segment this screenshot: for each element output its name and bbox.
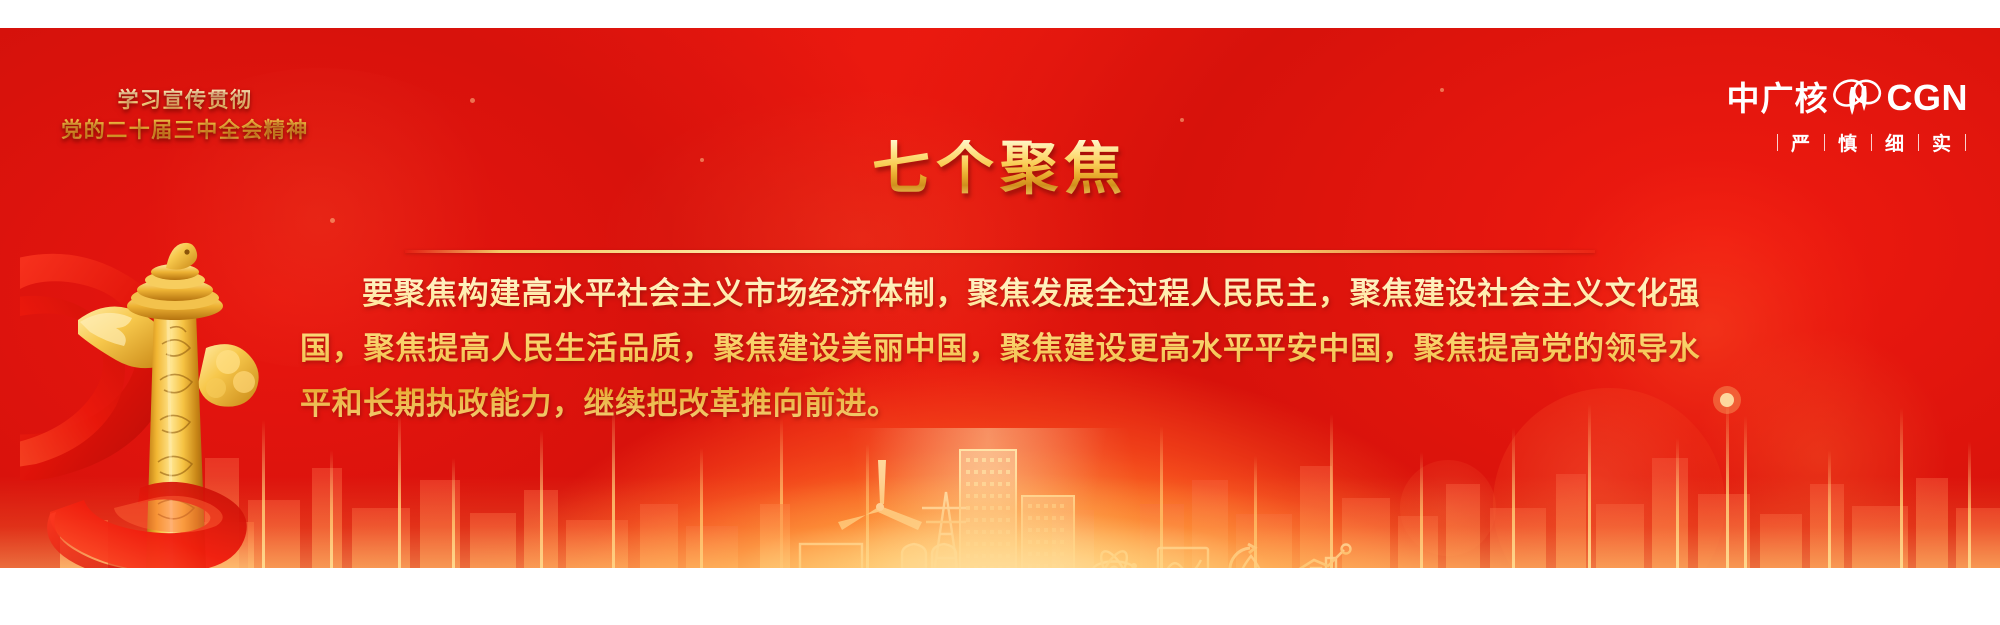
red-silk-ribbon-front (50, 482, 247, 568)
tagline-char-2: 慎 (1825, 129, 1871, 156)
gold-divider-line (405, 250, 1595, 253)
campaign-slogan: 学习宣传贯彻 党的二十届三中全会精神 (55, 86, 315, 146)
banner-body-text: 要聚焦构建高水平社会主义市场经济体制，聚焦发展全过程人民民主，聚焦建设社会主义文… (300, 266, 1700, 431)
sparkle-dot (330, 218, 335, 223)
sparkle-dot (1440, 88, 1444, 92)
propaganda-banner: 学习宣传贯彻 党的二十届三中全会精神 七个聚焦 要聚焦构建高水平社会主义市场经济… (0, 0, 2000, 625)
background-glow-right-low (1690, 328, 1950, 568)
tagline-char-4: 实 (1919, 129, 1965, 156)
column-shaft (146, 312, 206, 568)
cgn-logo-row: 中广核 CGN (1668, 76, 1968, 120)
cgn-logo-chinese: 中广核 (1727, 82, 1829, 115)
tagline-char-1: 严 (1778, 129, 1824, 156)
monitor-icon (1158, 548, 1208, 568)
column-crown-beast (166, 243, 197, 270)
slogan-line-1: 学习宣传贯彻 (55, 86, 315, 116)
tagline-separator (1965, 134, 1966, 151)
cloud-wing-right (198, 344, 259, 407)
cgn-logo-english: CGN (1887, 80, 1969, 116)
atom-icon (1093, 548, 1137, 568)
column-capital (127, 292, 223, 320)
cgn-tagline: 严 慎 细 实 (1668, 129, 1968, 156)
growth-chart-icon (1296, 545, 1351, 569)
banner-stage: 学习宣传贯彻 党的二十届三中全会精神 七个聚焦 要聚焦构建高水平社会主义市场经济… (0, 28, 2000, 568)
huabiao-column-decoration (20, 148, 320, 568)
cgn-logo-block: 中广核 CGN 严 慎 细 实 (1668, 76, 1968, 156)
sparkle-dot (1180, 118, 1184, 122)
tagline-char-3: 细 (1872, 129, 1918, 156)
red-silk-ribbon-back (20, 254, 176, 481)
sparkle-dot (470, 98, 475, 103)
cloud-wing-left (78, 307, 168, 369)
recycle-drop-icon (1230, 544, 1272, 568)
sun-circle-small-decor (1400, 460, 1496, 556)
cgn-swirl-mark (1831, 77, 1885, 119)
